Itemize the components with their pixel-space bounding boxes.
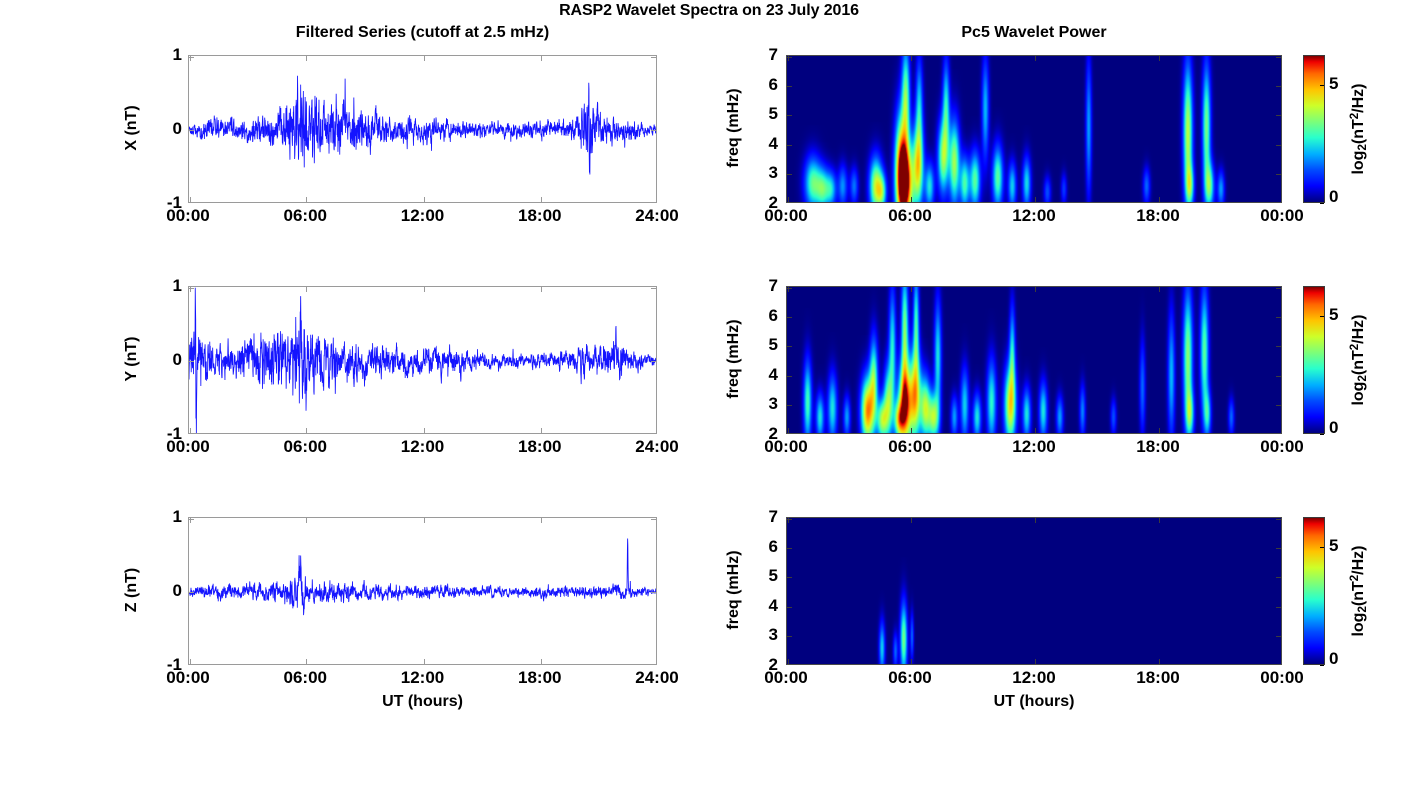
x-tick xyxy=(1159,197,1160,202)
timeseries-axes-y xyxy=(188,286,657,434)
y-tick xyxy=(651,288,656,289)
x-tick xyxy=(788,197,789,202)
y-tick xyxy=(189,288,194,289)
y-tick xyxy=(1276,346,1281,347)
y-tick-label: 0 xyxy=(144,119,182,139)
y-tick-label: 7 xyxy=(746,276,778,296)
x-tick xyxy=(306,197,307,202)
x-tick xyxy=(1159,287,1160,292)
x-tick xyxy=(306,56,307,61)
x-tick xyxy=(1282,287,1283,292)
y-tick xyxy=(787,636,792,637)
right-column-title: Pc5 Wavelet Power xyxy=(786,24,1282,42)
x-tick xyxy=(1159,659,1160,664)
timeseries-axes-x xyxy=(188,55,657,203)
y-tick xyxy=(1276,57,1281,58)
x-tick-label: 18:00 xyxy=(1136,206,1179,226)
x-tick xyxy=(306,659,307,664)
x-tick-label: 18:00 xyxy=(1136,437,1179,457)
colorbar-axis-name: log2(nT2/Hz) xyxy=(1349,276,1369,444)
x-tick-label: 12:00 xyxy=(1012,206,1055,226)
y-tick xyxy=(189,57,194,58)
colorbar-tickmark xyxy=(1320,434,1324,435)
y-tick xyxy=(1276,434,1281,435)
x-tick xyxy=(424,428,425,433)
y-tick xyxy=(787,203,792,204)
spectrogram-axes-z xyxy=(786,517,1282,665)
y-tick-label: 3 xyxy=(746,625,778,645)
y-tick xyxy=(1276,376,1281,377)
x-tick-label: 06:00 xyxy=(284,668,327,688)
colorbar-tick-label: 5 xyxy=(1329,536,1338,556)
x-tick xyxy=(1282,197,1283,202)
timeseries-axes-z xyxy=(188,517,657,665)
waveform-trace xyxy=(189,56,657,203)
y-tick xyxy=(787,376,792,377)
y-tick xyxy=(651,130,656,131)
y-tick-label: 5 xyxy=(746,104,778,124)
y-tick xyxy=(651,519,656,520)
y-tick-label: 6 xyxy=(746,75,778,95)
y-tick xyxy=(651,592,656,593)
x-tick xyxy=(1282,659,1283,664)
y-tick-label: -1 xyxy=(144,424,182,444)
x-tick xyxy=(1282,428,1283,433)
y-tick xyxy=(787,607,792,608)
figure-title: RASP2 Wavelet Spectra on 23 July 2016 xyxy=(0,2,1418,20)
x-tick-label: 00:00 xyxy=(1260,668,1303,688)
x-tick xyxy=(1159,518,1160,523)
y-tick-label: 2 xyxy=(746,424,778,444)
y-tick xyxy=(787,577,792,578)
x-tick xyxy=(424,518,425,523)
x-tick-label: 06:00 xyxy=(888,437,931,457)
x-tick xyxy=(1035,518,1036,523)
x-tick-label: 24:00 xyxy=(635,668,678,688)
y-tick xyxy=(1276,548,1281,549)
x-tick xyxy=(190,659,191,664)
y-tick xyxy=(1276,174,1281,175)
spectrogram-axes-x xyxy=(786,55,1282,203)
y-tick xyxy=(787,405,792,406)
y-tick xyxy=(1276,86,1281,87)
colorbar-tick-label: 5 xyxy=(1329,74,1338,94)
y-tick xyxy=(787,665,792,666)
x-tick xyxy=(424,197,425,202)
x-tick-label: 24:00 xyxy=(635,437,678,457)
x-tick xyxy=(1159,428,1160,433)
y-tick xyxy=(787,346,792,347)
x-tick xyxy=(541,428,542,433)
x-tick-label: 00:00 xyxy=(1260,206,1303,226)
x-tick xyxy=(1035,287,1036,292)
colorbar-axis-name: log2(nT2/Hz) xyxy=(1349,45,1369,213)
y-tick-label: 1 xyxy=(144,276,182,296)
spectrogram-raster xyxy=(787,518,1282,665)
waveform-trace xyxy=(189,287,657,434)
x-tick-label: 18:00 xyxy=(518,206,561,226)
y-tick xyxy=(1276,203,1281,204)
y-tick xyxy=(1276,519,1281,520)
y-tick xyxy=(189,130,194,131)
y-tick xyxy=(787,434,792,435)
y-tick xyxy=(651,57,656,58)
x-tick xyxy=(911,56,912,61)
y-axis-name-y: Y (nT) xyxy=(123,285,141,433)
x-tick xyxy=(306,518,307,523)
waveform-trace xyxy=(189,518,657,665)
x-tick xyxy=(1035,56,1036,61)
x-tick xyxy=(911,518,912,523)
x-tick xyxy=(541,197,542,202)
x-tick-label: 18:00 xyxy=(1136,668,1179,688)
y-tick-label: 3 xyxy=(746,394,778,414)
x-tick xyxy=(541,518,542,523)
x-tick xyxy=(911,287,912,292)
x-tick xyxy=(1035,197,1036,202)
x-tick xyxy=(306,287,307,292)
x-tick-label: 06:00 xyxy=(888,206,931,226)
colorbar xyxy=(1303,286,1325,434)
y-axis-name-freq: freq (mHz) xyxy=(725,285,743,433)
y-tick xyxy=(1276,577,1281,578)
x-tick xyxy=(190,428,191,433)
y-tick-label: 3 xyxy=(746,163,778,183)
colorbar-tickmark xyxy=(1320,203,1324,204)
spectrogram-axes-y xyxy=(786,286,1282,434)
x-tick xyxy=(911,428,912,433)
x-tick xyxy=(541,659,542,664)
y-tick xyxy=(787,115,792,116)
y-tick xyxy=(787,86,792,87)
y-tick-label: 4 xyxy=(746,134,778,154)
x-tick-label: 12:00 xyxy=(1012,437,1055,457)
y-tick xyxy=(651,361,656,362)
y-tick xyxy=(787,317,792,318)
y-tick xyxy=(787,288,792,289)
x-tick xyxy=(541,56,542,61)
x-tick-label: 18:00 xyxy=(518,437,561,457)
x-tick xyxy=(306,428,307,433)
x-tick-label: 12:00 xyxy=(1012,668,1055,688)
colorbar-tickmark xyxy=(1320,316,1324,317)
colorbar xyxy=(1303,517,1325,665)
x-tick-label: 06:00 xyxy=(284,437,327,457)
y-tick xyxy=(189,361,194,362)
x-tick xyxy=(1282,56,1283,61)
colorbar-tick-label: 0 xyxy=(1329,649,1338,669)
y-tick-label: -1 xyxy=(144,655,182,675)
y-axis-name-freq: freq (mHz) xyxy=(725,54,743,202)
x-tick xyxy=(541,287,542,292)
y-tick xyxy=(1276,665,1281,666)
y-tick xyxy=(1276,317,1281,318)
y-tick-label: 7 xyxy=(746,45,778,65)
left-column-title: Filtered Series (cutoff at 2.5 mHz) xyxy=(188,24,657,42)
y-tick-label: 6 xyxy=(746,306,778,326)
y-axis-name-z: Z (nT) xyxy=(123,516,141,664)
x-tick xyxy=(788,659,789,664)
y-tick xyxy=(1276,115,1281,116)
colorbar xyxy=(1303,55,1325,203)
y-tick-label: 1 xyxy=(144,507,182,527)
colorbar-tickmark xyxy=(1320,85,1324,86)
y-tick xyxy=(787,519,792,520)
y-tick-label: 0 xyxy=(144,350,182,370)
spectrogram-raster xyxy=(787,287,1282,434)
y-axis-name-freq: freq (mHz) xyxy=(725,516,743,664)
x-tick-label: 24:00 xyxy=(635,206,678,226)
y-tick xyxy=(787,174,792,175)
y-tick-label: 2 xyxy=(746,193,778,213)
x-tick xyxy=(1035,659,1036,664)
y-tick-label: 5 xyxy=(746,335,778,355)
x-tick xyxy=(190,197,191,202)
x-axis-name-right: UT (hours) xyxy=(994,693,1075,711)
x-tick xyxy=(1035,428,1036,433)
y-tick-label: 0 xyxy=(144,581,182,601)
y-tick xyxy=(787,57,792,58)
y-tick-label: 4 xyxy=(746,596,778,616)
x-tick-label: 06:00 xyxy=(888,668,931,688)
y-tick-label: 7 xyxy=(746,507,778,527)
x-tick xyxy=(911,659,912,664)
y-axis-name-x: X (nT) xyxy=(123,54,141,202)
x-tick-label: 12:00 xyxy=(401,206,444,226)
x-tick-label: 12:00 xyxy=(401,437,444,457)
y-tick xyxy=(189,592,194,593)
y-tick-label: 4 xyxy=(746,365,778,385)
y-tick xyxy=(1276,607,1281,608)
x-tick xyxy=(424,287,425,292)
y-tick xyxy=(787,548,792,549)
x-tick xyxy=(424,659,425,664)
y-tick-label: 6 xyxy=(746,537,778,557)
y-tick xyxy=(1276,636,1281,637)
x-tick xyxy=(788,428,789,433)
colorbar-tick-label: 0 xyxy=(1329,418,1338,438)
y-tick-label: -1 xyxy=(144,193,182,213)
y-tick xyxy=(1276,288,1281,289)
y-tick-label: 5 xyxy=(746,566,778,586)
figure-root: RASP2 Wavelet Spectra on 23 July 2016 Fi… xyxy=(0,0,1418,788)
x-tick-label: 18:00 xyxy=(518,668,561,688)
y-tick xyxy=(1276,145,1281,146)
x-tick xyxy=(1282,518,1283,523)
y-tick xyxy=(189,519,194,520)
x-tick xyxy=(424,56,425,61)
y-tick-label: 2 xyxy=(746,655,778,675)
x-tick xyxy=(911,197,912,202)
y-tick xyxy=(787,145,792,146)
colorbar-tickmark xyxy=(1320,547,1324,548)
colorbar-axis-name: log2(nT2/Hz) xyxy=(1349,507,1369,675)
x-tick-label: 06:00 xyxy=(284,206,327,226)
x-tick-label: 00:00 xyxy=(1260,437,1303,457)
spectrogram-raster xyxy=(787,56,1282,203)
x-tick xyxy=(1159,56,1160,61)
colorbar-tickmark xyxy=(1320,665,1324,666)
colorbar-tick-label: 5 xyxy=(1329,305,1338,325)
x-tick-label: 12:00 xyxy=(401,668,444,688)
y-tick xyxy=(1276,405,1281,406)
y-tick-label: 1 xyxy=(144,45,182,65)
colorbar-tick-label: 0 xyxy=(1329,187,1338,207)
x-axis-name-left: UT (hours) xyxy=(382,693,463,711)
